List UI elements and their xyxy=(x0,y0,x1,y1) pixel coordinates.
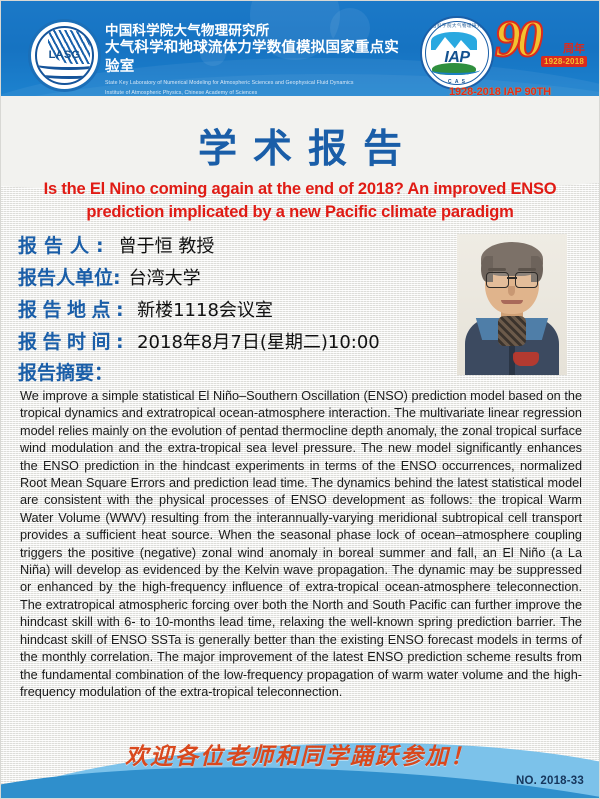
poster-number: NO. 2018-33 xyxy=(516,775,584,787)
anniversary-cn-label: 周年 xyxy=(563,40,585,56)
org-name-cn-line2: 大气科学和地球流体力学数值模拟国家重点实验室 xyxy=(105,39,405,77)
affiliation-label: 报告人单位: xyxy=(18,263,121,290)
abstract-text: We improve a simple statistical El Niño–… xyxy=(20,388,582,701)
org-name-en-line1: State Key Laboratory of Numerical Modeli… xyxy=(105,79,405,87)
location-value: 新楼1118会议室 xyxy=(137,296,273,322)
affiliation-value: 台湾大学 xyxy=(129,264,201,290)
info-row-time: 报告时间: 2018年8月7日(星期二)10:00 xyxy=(18,327,448,359)
org-name-cn-line1: 中国科学院大气物理研究所 xyxy=(105,22,405,39)
time-value: 2018年8月7日(星期二)10:00 xyxy=(137,328,380,354)
iap-logo-arc-text: 中国科学院大气物理研究所 xyxy=(422,23,492,29)
location-label: 报告地点: xyxy=(18,295,129,322)
speaker-value: 曾于恒 教授 xyxy=(119,232,215,258)
iap-logo-icon: 中国科学院大气物理研究所 IAP C A S xyxy=(420,16,494,90)
talk-info-block: 报告人: 曾于恒 教授 报告人单位: 台湾大学 报告地点: 新楼1118会议室 … xyxy=(18,231,448,359)
anniversary-emblem-icon: 90 周年 1928-2018 xyxy=(495,14,587,80)
lasg-logo-icon: LASG xyxy=(31,22,98,89)
seminar-poster: LASG 中国科学院大气物理研究所 大气科学和地球流体力学数值模拟国家重点实验室… xyxy=(0,0,600,799)
iap-logo-cas-label: C A S xyxy=(422,79,492,85)
anniversary-number: 90 xyxy=(495,12,539,68)
header-banner: LASG 中国科学院大气物理研究所 大气科学和地球流体力学数值模拟国家重点实验室… xyxy=(0,0,600,108)
info-row-location: 报告地点: 新楼1118会议室 xyxy=(18,295,448,327)
info-row-speaker: 报告人: 曾于恒 教授 xyxy=(18,231,448,263)
talk-title-en: Is the El Nino coming again at the end o… xyxy=(22,178,578,224)
abstract-label: 报告摘要： xyxy=(18,358,113,385)
welcome-message: 欢迎各位老师和同学踊跃参加！ xyxy=(0,737,600,771)
lasg-logo-label: LASG xyxy=(37,49,92,61)
page-title: 学术报告 xyxy=(0,118,600,174)
speaker-label: 报告人: xyxy=(18,231,111,258)
speaker-photo xyxy=(457,234,567,375)
anniversary-years: 1928-2018 xyxy=(541,56,587,67)
time-label: 报告时间: xyxy=(18,327,129,354)
organization-title-block: 中国科学院大气物理研究所 大气科学和地球流体力学数值模拟国家重点实验室 Stat… xyxy=(105,22,405,97)
info-row-affiliation: 报告人单位: 台湾大学 xyxy=(18,263,448,295)
